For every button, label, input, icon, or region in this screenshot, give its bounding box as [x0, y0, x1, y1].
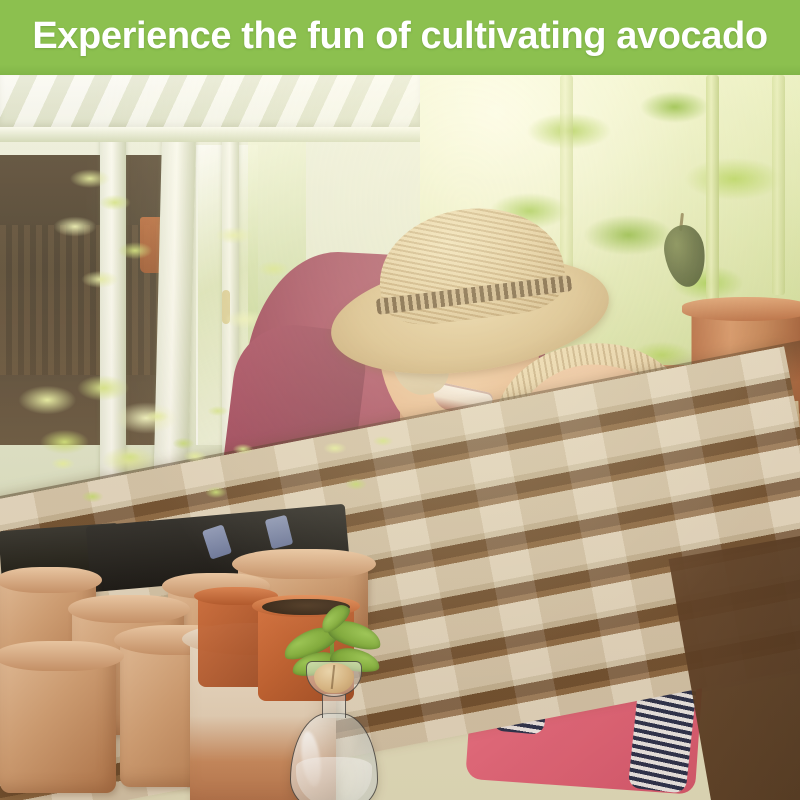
greenhouse-rail — [0, 127, 420, 142]
headline-banner: Experience the fun of cultivating avocad… — [0, 0, 800, 75]
terracotta-pot-rim — [0, 567, 102, 593]
glass-germination-vase — [288, 661, 380, 800]
vase-neck — [322, 694, 346, 718]
bamboo-cane — [772, 75, 785, 295]
terracotta-pot-rim — [68, 595, 190, 623]
terracotta-pot-rim — [0, 641, 124, 671]
terracotta-pot — [0, 653, 116, 793]
scene-photo — [0, 75, 800, 800]
terracotta-pot-rim — [232, 549, 376, 579]
headline-text: Experience the fun of cultivating avocad… — [0, 12, 800, 60]
product-image: Experience the fun of cultivating avocad… — [0, 0, 800, 800]
seedling-tray-plants — [290, 417, 440, 537]
large-pot-rim — [682, 297, 800, 321]
greenhouse-roof — [0, 75, 420, 127]
